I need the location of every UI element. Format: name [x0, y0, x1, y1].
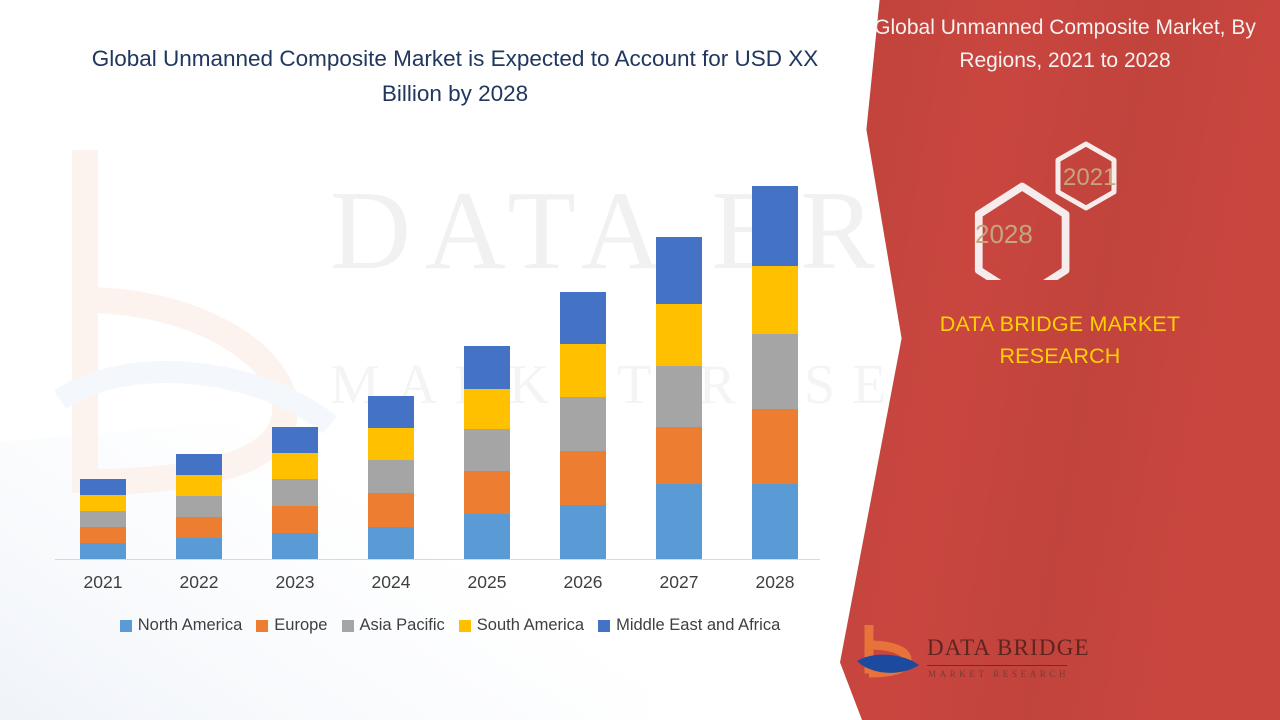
brand-line-1: DATA BRIDGE MARKET	[940, 312, 1181, 336]
bar-segment[interactable]	[656, 366, 702, 427]
bar-segment[interactable]	[560, 344, 606, 397]
x-axis-label: 2027	[631, 572, 727, 593]
bar-segment[interactable]	[272, 479, 318, 506]
bar-segment[interactable]	[464, 514, 510, 559]
logo-text-sub: MARKET RESEARCH	[928, 669, 1069, 679]
legend-item[interactable]: Asia Pacific	[342, 616, 445, 635]
bar-group-2023[interactable]	[272, 427, 318, 559]
legend-label: Asia Pacific	[360, 616, 445, 635]
x-axis-label: 2028	[727, 572, 823, 593]
bar-segment[interactable]	[752, 409, 798, 484]
bar-group-2024[interactable]	[368, 396, 414, 559]
bar-segment[interactable]	[368, 493, 414, 527]
brand-line-2: RESEARCH	[999, 344, 1120, 368]
bar-segment[interactable]	[80, 479, 126, 495]
bar-segment[interactable]	[80, 511, 126, 527]
x-axis-label: 2021	[55, 572, 151, 593]
bar-segment[interactable]	[176, 517, 222, 538]
bar-segment[interactable]	[272, 533, 318, 559]
bar-segment[interactable]	[368, 396, 414, 428]
bar-segment[interactable]	[752, 484, 798, 559]
bar-segment[interactable]	[464, 346, 510, 389]
bar-segment[interactable]	[752, 186, 798, 266]
bar-segment[interactable]	[560, 397, 606, 451]
x-axis-label: 2024	[343, 572, 439, 593]
bar-segment[interactable]	[368, 428, 414, 460]
bar-segment[interactable]	[80, 527, 126, 543]
legend-item[interactable]: Europe	[256, 616, 327, 635]
bar-segment[interactable]	[80, 495, 126, 511]
bar-group-2028[interactable]	[752, 186, 798, 559]
legend-label: Middle East and Africa	[616, 616, 780, 635]
x-axis-baseline	[55, 559, 820, 560]
slide-canvas: DATA BRIDGE MARKET RESEARCH Global Unman…	[0, 0, 1280, 720]
bar-segment[interactable]	[80, 543, 126, 559]
bar-group-2026[interactable]	[560, 292, 606, 559]
x-axis-label: 2022	[151, 572, 247, 593]
bar-segment[interactable]	[560, 451, 606, 505]
chart-legend: North AmericaEuropeAsia PacificSouth Ame…	[55, 616, 845, 635]
chart-title: Global Unmanned Composite Market is Expe…	[60, 42, 850, 112]
x-axis-label: 2023	[247, 572, 343, 593]
bar-segment[interactable]	[368, 460, 414, 493]
bar-segment[interactable]	[656, 237, 702, 304]
hexagon-label-2028: 2028	[975, 219, 1033, 250]
bar-segment[interactable]	[368, 527, 414, 559]
bar-segment[interactable]	[464, 471, 510, 514]
bar-segment[interactable]	[176, 538, 222, 559]
bar-group-2021[interactable]	[80, 479, 126, 559]
bar-segment[interactable]	[752, 266, 798, 334]
legend-label: Europe	[274, 616, 327, 635]
bar-segment[interactable]	[752, 334, 798, 409]
bar-segment[interactable]	[560, 292, 606, 344]
legend-swatch-icon	[342, 620, 354, 632]
bar-group-2025[interactable]	[464, 346, 510, 559]
legend-label: North America	[138, 616, 243, 635]
chart-panel: DATA BRIDGE MARKET RESEARCH Global Unman…	[0, 0, 980, 720]
x-axis-label: 2026	[535, 572, 631, 593]
bar-segment[interactable]	[560, 505, 606, 559]
bar-segment[interactable]	[656, 304, 702, 366]
legend-swatch-icon	[120, 620, 132, 632]
data-bridge-logo: DATA BRIDGE MARKET RESEARCH	[855, 625, 1075, 697]
bar-segment[interactable]	[176, 454, 222, 475]
bar-segment[interactable]	[464, 389, 510, 429]
hexagon-badges: 2021 2028	[940, 140, 1160, 280]
hexagon-outline-icon	[940, 140, 1160, 280]
x-axis-labels: 20212022202320242025202620272028	[55, 572, 825, 602]
legend-swatch-icon	[459, 620, 471, 632]
bar-group-2022[interactable]	[176, 454, 222, 559]
brand-panel-title: Global Unmanned Composite Market, By Reg…	[870, 12, 1260, 77]
bar-segment[interactable]	[656, 427, 702, 484]
legend-swatch-icon	[598, 620, 610, 632]
bar-group-2027[interactable]	[656, 237, 702, 559]
bar-segment[interactable]	[272, 506, 318, 533]
bar-segment[interactable]	[272, 453, 318, 479]
bar-segment[interactable]	[272, 427, 318, 453]
legend-item[interactable]: North America	[120, 616, 243, 635]
x-axis-label: 2025	[439, 572, 535, 593]
logo-mark-icon	[855, 625, 925, 685]
legend-item[interactable]: South America	[459, 616, 584, 635]
bar-segment[interactable]	[656, 484, 702, 559]
bar-segment[interactable]	[176, 496, 222, 517]
hexagon-label-2021: 2021	[1063, 164, 1116, 192]
bar-segment[interactable]	[464, 429, 510, 471]
brand-panel: Global Unmanned Composite Market, By Reg…	[840, 0, 1280, 720]
legend-label: South America	[477, 616, 584, 635]
legend-swatch-icon	[256, 620, 268, 632]
brand-name: DATA BRIDGE MARKET RESEARCH	[860, 308, 1260, 373]
plot-area	[55, 150, 825, 560]
logo-divider	[927, 665, 1067, 666]
logo-text-main: DATA BRIDGE	[927, 635, 1090, 661]
bar-segment[interactable]	[176, 475, 222, 496]
legend-item[interactable]: Middle East and Africa	[598, 616, 780, 635]
